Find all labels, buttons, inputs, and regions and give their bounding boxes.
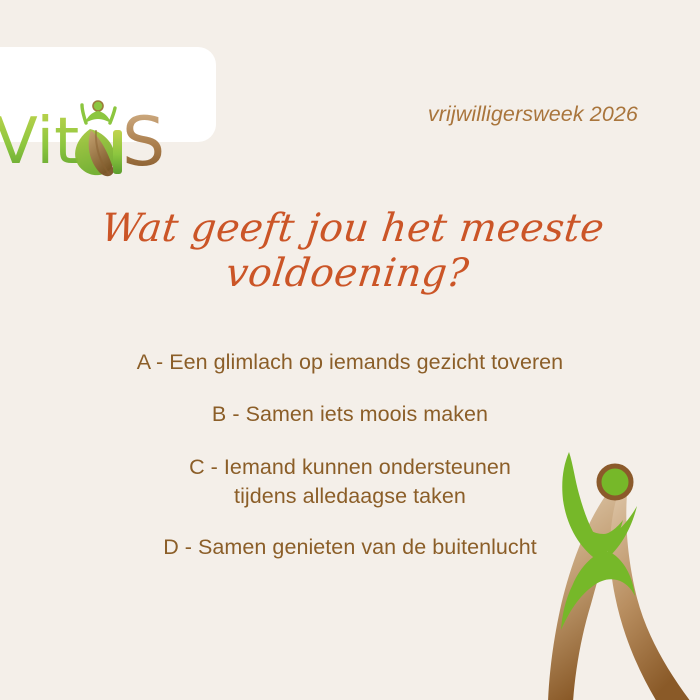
options-list: A - Een glimlach op iemands gezicht tove… xyxy=(0,348,700,562)
logo-card: Vit S xyxy=(0,47,216,142)
option-a[interactable]: A - Een glimlach op iemands gezicht tove… xyxy=(0,348,700,377)
option-c[interactable]: C - Iemand kunnen ondersteunen tijdens a… xyxy=(0,453,700,511)
logo-a-stem xyxy=(113,130,122,174)
vitas-logo: Vit S xyxy=(0,97,190,185)
option-d[interactable]: D - Samen genieten van de buitenlucht xyxy=(0,533,700,562)
logo-text-vit: Vit xyxy=(0,105,79,179)
logo-leaf-mark xyxy=(75,129,115,176)
logo-text-s: S xyxy=(122,103,165,182)
option-b[interactable]: B - Samen iets moois maken xyxy=(0,400,700,429)
page-title: Wat geeft jou het meeste voldoening? xyxy=(0,206,700,296)
poster-canvas: Vit S vrijwilligersweek 2026 Wat ge xyxy=(0,0,700,700)
logo-person-icon xyxy=(82,101,115,123)
campaign-label: vrijwilligersweek 2026 xyxy=(418,102,638,127)
